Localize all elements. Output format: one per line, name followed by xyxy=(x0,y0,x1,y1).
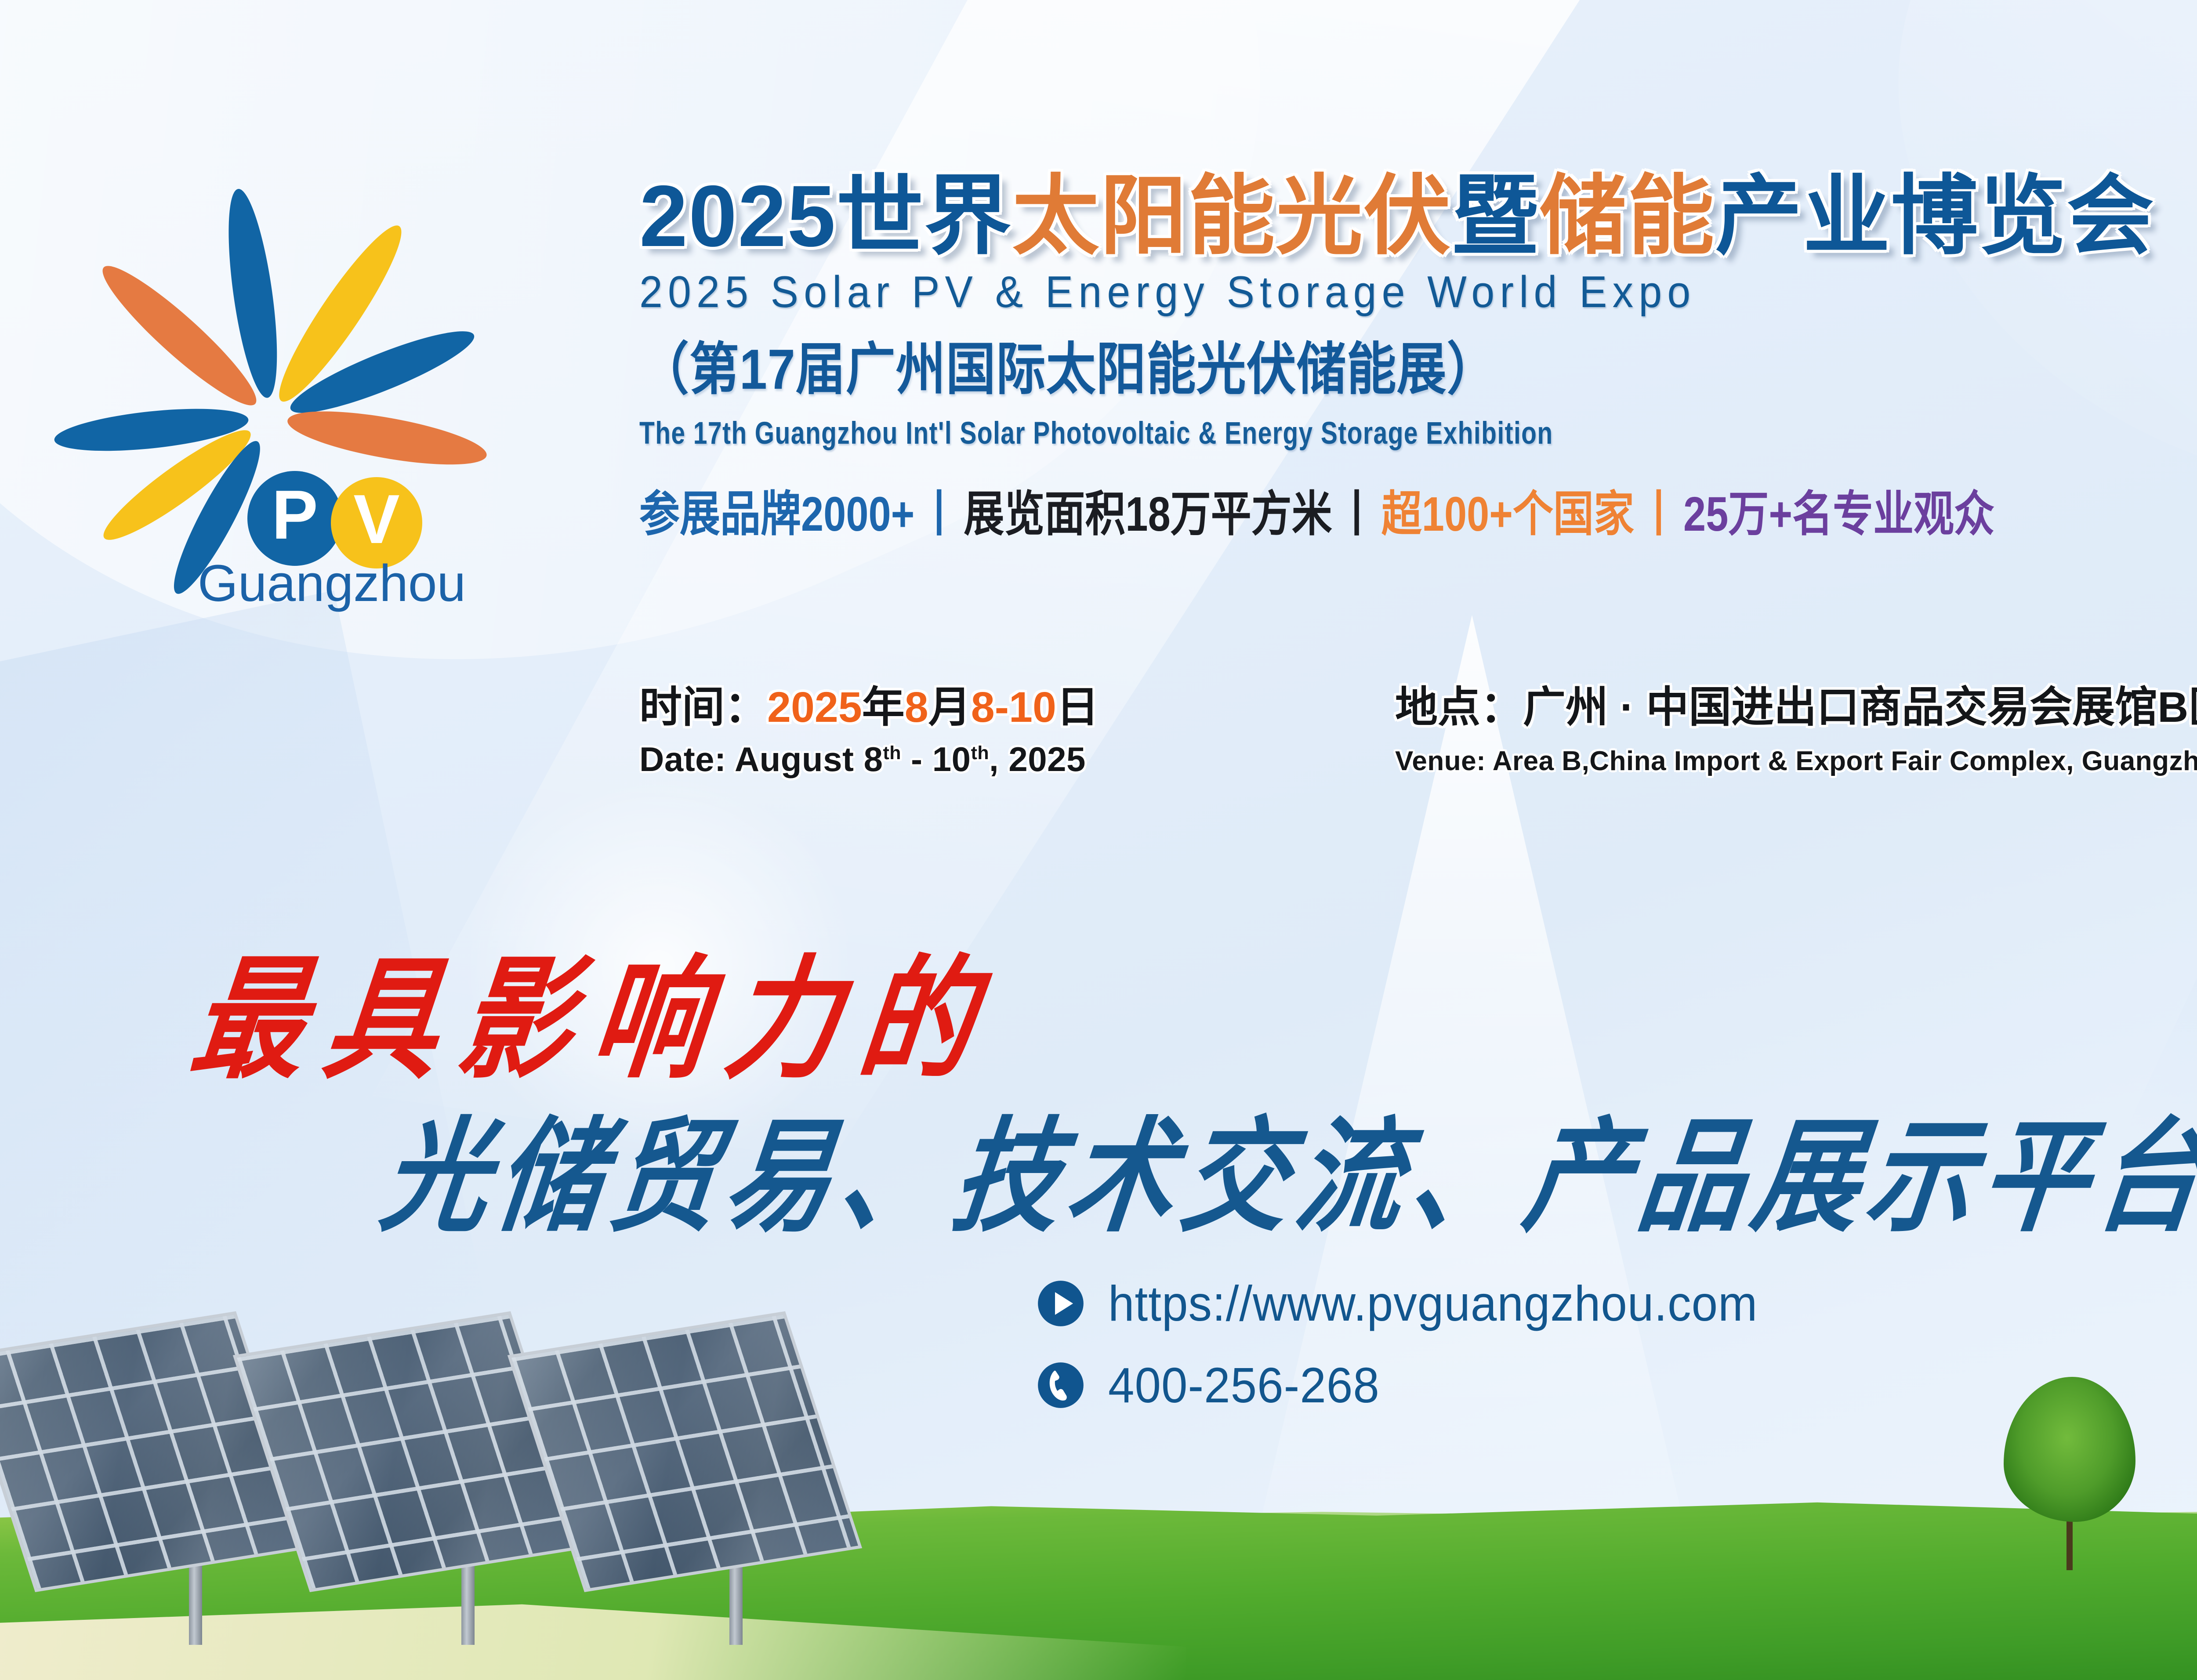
contact-block: https://www.pvguangzhou.com 400-256-268 xyxy=(1037,1276,1758,1440)
logo-letter-v: V xyxy=(353,481,399,558)
stat-separator-1: 丨 xyxy=(914,487,964,541)
date-en-mid: - 10 xyxy=(901,740,971,778)
date-month-unit: 月 xyxy=(928,683,971,731)
event-title-english: 2025 Solar PV & Energy Storage World Exp… xyxy=(639,267,2197,318)
logo-wordmark: Guangzhou xyxy=(198,554,466,612)
date-day-unit: 日 xyxy=(1056,683,1099,731)
stat-exhibiting-brands: 参展品牌2000+ xyxy=(639,487,914,541)
slogan-line-blue: 光储贸易、技术交流、产品展示平台！ xyxy=(373,1076,2197,1255)
date-english: Date: August 8th - 10th, 2025 xyxy=(639,739,1395,779)
stat-visitors: 25万+名专业观众 xyxy=(1683,487,1994,541)
event-subtitle-chinese: （第17届广州国际太阳能光伏储能展） xyxy=(639,323,2197,405)
landscape-scene xyxy=(0,1434,2197,1680)
promo-banner: P V Guangzhou 2025世界太阳能光伏暨储能产业博览会 2025 S… xyxy=(0,0,2197,1680)
date-month: 8 xyxy=(905,683,928,731)
date-en-sup-1: th xyxy=(883,742,901,764)
date-column: 时间：2025年8月8-10日 Date: August 8th - 10th,… xyxy=(639,672,1395,779)
venue-column: 地点：广州 · 中国进出口商品交易会展馆B区 Venue: Area B,Chi… xyxy=(1395,672,2197,777)
logo-letter-p: P xyxy=(272,476,318,554)
tree-icon xyxy=(2004,1386,2135,1570)
title-part-1: 太阳能光伏 xyxy=(1012,167,1451,264)
date-venue-block: 时间：2025年8月8-10日 Date: August 8th - 10th,… xyxy=(639,672,2197,779)
title-part-2: 暨 xyxy=(1451,167,1539,264)
event-stats-row: 参展品牌2000+丨展览面积18万平方米丨超100+个国家丨25万+名专业观众 xyxy=(639,475,2197,545)
date-label-cn: 时间： xyxy=(639,683,767,731)
phone-row[interactable]: 400-256-268 xyxy=(1037,1358,1758,1412)
slogan-line-red: 最具影响力的 xyxy=(183,912,1008,1104)
date-en-prefix: Date: August 8 xyxy=(639,740,883,778)
solar-panel-array-icon xyxy=(0,1311,1059,1645)
title-part-0: 2025世界 xyxy=(639,167,1012,264)
website-row[interactable]: https://www.pvguangzhou.com xyxy=(1037,1276,1758,1331)
date-year: 2025 xyxy=(767,683,862,731)
venue-chinese: 地点：广州 · 中国进出口商品交易会展馆B区 xyxy=(1395,672,2197,734)
date-en-sup-2: th xyxy=(971,742,989,764)
date-en-suffix: , 2025 xyxy=(989,740,1086,778)
date-year-unit: 年 xyxy=(862,683,905,731)
header-text-block: 2025世界太阳能光伏暨储能产业博览会 2025 Solar PV & Ener… xyxy=(639,171,2197,539)
event-subtitle-english: The 17th Guangzhou Int'l Solar Photovolt… xyxy=(639,415,2197,452)
event-title-chinese: 2025世界太阳能光伏暨储能产业博览会 xyxy=(639,171,2197,261)
date-days: 8-10 xyxy=(971,683,1056,731)
website-url[interactable]: https://www.pvguangzhou.com xyxy=(1108,1274,1758,1332)
stat-separator-2: 丨 xyxy=(1332,487,1381,541)
stat-exhibition-area: 展览面积18万平方米 xyxy=(964,487,1332,541)
title-part-3: 储能 xyxy=(1539,167,1715,264)
stat-separator-3: 丨 xyxy=(1634,487,1683,541)
venue-english: Venue: Area B,China Import & Export Fair… xyxy=(1395,746,2197,777)
phone-number[interactable]: 400-256-268 xyxy=(1108,1356,1380,1414)
logo-sunburst-icon: P V Guangzhou xyxy=(51,171,569,619)
date-chinese: 时间：2025年8月8-10日 xyxy=(639,672,1395,734)
title-part-4: 产业博览会 xyxy=(1715,167,2154,264)
stat-countries: 超100+个国家 xyxy=(1381,487,1634,541)
pv-guangzhou-logo[interactable]: P V Guangzhou xyxy=(51,171,569,619)
